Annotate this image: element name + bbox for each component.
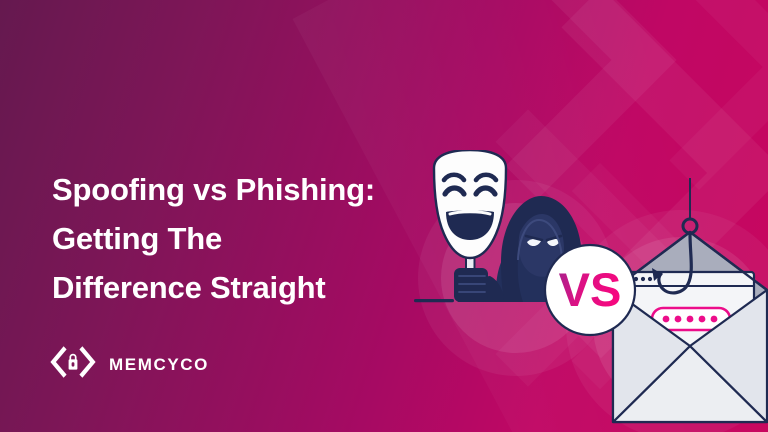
phishing-scene [613, 178, 767, 422]
vs-label: VS [559, 263, 622, 316]
headline-line-1: Spoofing vs Phishing: [52, 165, 452, 214]
desk-line [414, 299, 454, 302]
headline-line-2: Getting The [52, 214, 452, 263]
hand-icon [454, 254, 504, 302]
vs-badge: VS [545, 245, 635, 335]
hero-banner: Spoofing vs Phishing: Getting The Differ… [0, 0, 768, 432]
headline-line-3: Difference Straight [52, 263, 452, 312]
smiling-mask-icon [434, 150, 506, 258]
chevron-lock-icon [50, 344, 96, 385]
memcyco-logo: MEMCYCO [50, 344, 209, 385]
page-title: Spoofing vs Phishing: Getting The Differ… [52, 165, 452, 312]
logo-wordmark: MEMCYCO [109, 355, 209, 375]
hero-illustration: VS [400, 150, 768, 432]
